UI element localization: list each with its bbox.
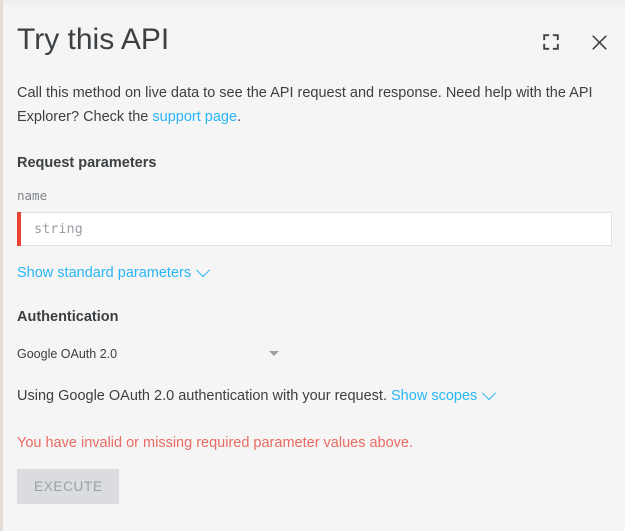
description-text-after: .: [237, 109, 241, 125]
try-this-api-panel: Try this API: [0, 0, 625, 531]
authentication-select[interactable]: Google OAuth 2.0: [17, 343, 279, 365]
chevron-down-icon: [196, 263, 210, 277]
close-icon[interactable]: [588, 31, 610, 53]
request-parameters-heading: Request parameters: [17, 153, 612, 173]
chevron-down-icon: [482, 386, 496, 400]
fullscreen-icon[interactable]: [540, 31, 562, 53]
show-scopes-toggle[interactable]: Show scopes: [391, 386, 494, 406]
page-title: Try this API: [17, 21, 169, 59]
parameter-label-name: name: [17, 188, 612, 204]
dialog-description: Call this method on live data to see the…: [17, 81, 612, 129]
authentication-heading: Authentication: [17, 307, 612, 327]
chevron-down-icon: [269, 351, 279, 356]
validation-error-message: You have invalid or missing required par…: [17, 433, 612, 453]
dialog-header: Try this API: [17, 0, 612, 59]
show-standard-parameters-label: Show standard parameters: [17, 263, 191, 283]
support-page-link[interactable]: support page: [152, 109, 237, 125]
required-error-indicator: [17, 212, 21, 246]
parameter-row-name: name: [17, 188, 612, 246]
header-actions: [540, 21, 612, 53]
show-standard-parameters-toggle[interactable]: Show standard parameters: [17, 263, 208, 283]
name-input[interactable]: [17, 213, 611, 245]
authentication-select-value: Google OAuth 2.0: [17, 345, 117, 363]
show-scopes-label: Show scopes: [391, 386, 477, 406]
execute-button[interactable]: EXECUTE: [17, 469, 119, 504]
authentication-note: Using Google OAuth 2.0 authentication wi…: [17, 386, 612, 406]
parameter-field-wrapper-name: [17, 212, 612, 246]
authentication-note-text: Using Google OAuth 2.0 authentication wi…: [17, 388, 387, 404]
description-text-before: Call this method on live data to see the…: [17, 85, 593, 125]
